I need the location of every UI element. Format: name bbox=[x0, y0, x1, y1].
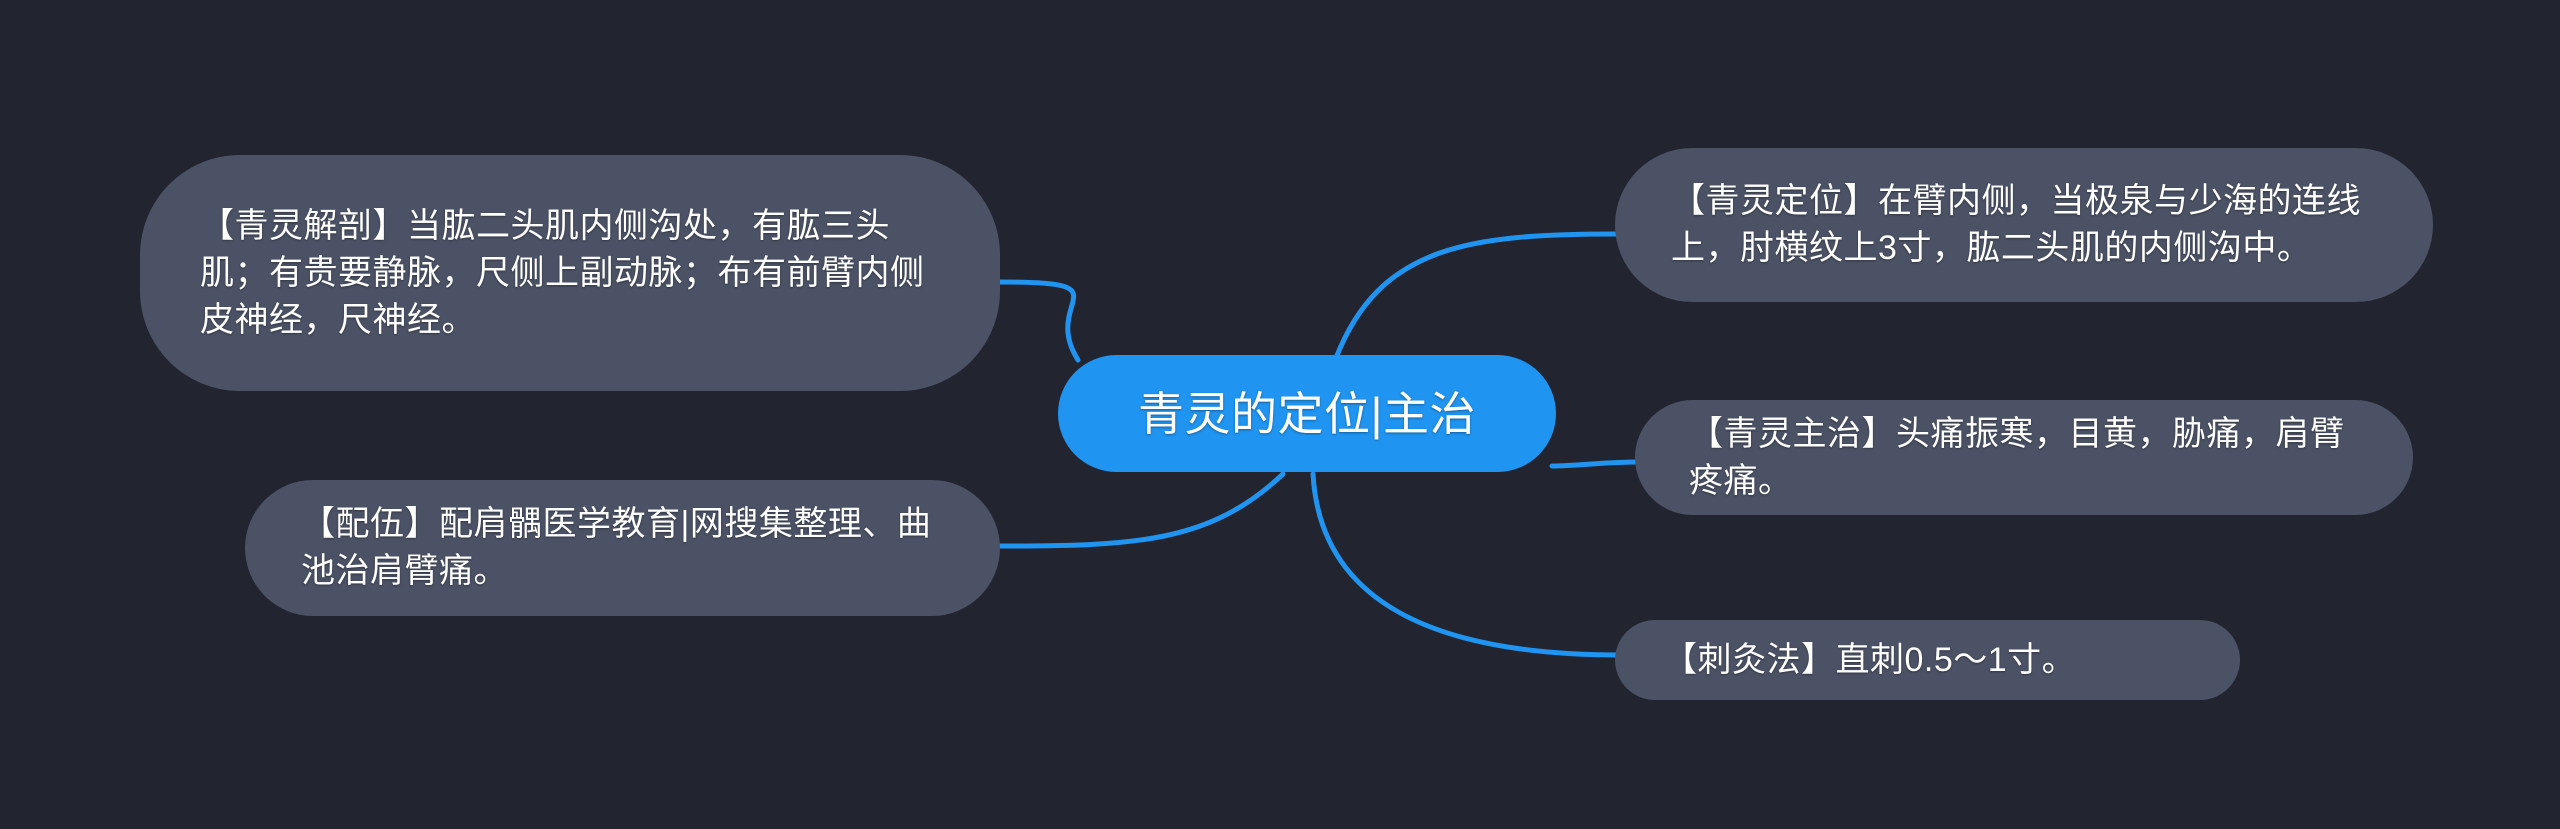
connector-root-pairing bbox=[1000, 474, 1283, 546]
connector-root-anatomy bbox=[1000, 282, 1078, 360]
connector-root-indications bbox=[1552, 462, 1640, 466]
mindmap-node-location-label: 【青灵定位】在臂内侧，当极泉与少海的连线上，肘横纹上3寸，肱二头肌的内侧沟中。 bbox=[1671, 178, 2375, 272]
mindmap-node-needling-label: 【刺灸法】直刺0.5～1寸。 bbox=[1663, 638, 2190, 682]
mindmap-root-label: 青灵的定位|主治 bbox=[1058, 389, 1556, 439]
mindmap-node-pairing-label: 【配伍】配肩髃医学教育|网搜集整理、曲池治肩臂痛。 bbox=[301, 501, 942, 595]
mindmap-node-indications-label: 【青灵主治】头痛振寒，目黄，胁痛，肩臂疼痛。 bbox=[1689, 411, 2357, 505]
connector-root-location bbox=[1336, 234, 1618, 358]
mindmap-node-location[interactable]: 【青灵定位】在臂内侧，当极泉与少海的连线上，肘横纹上3寸，肱二头肌的内侧沟中。 bbox=[1615, 148, 2433, 302]
mindmap-node-pairing[interactable]: 【配伍】配肩髃医学教育|网搜集整理、曲池治肩臂痛。 bbox=[245, 480, 1000, 616]
mindmap-node-anatomy[interactable]: 【青灵解剖】当肱二头肌内侧沟处，有肱三头肌；有贵要静脉，尺侧上副动脉；布有前臂内… bbox=[140, 155, 1000, 391]
mindmap-canvas: 【青灵解剖】当肱二头肌内侧沟处，有肱三头肌；有贵要静脉，尺侧上副动脉；布有前臂内… bbox=[0, 0, 2560, 829]
connector-root-needling bbox=[1313, 474, 1620, 655]
mindmap-node-needling[interactable]: 【刺灸法】直刺0.5～1寸。 bbox=[1615, 620, 2240, 700]
mindmap-node-anatomy-label: 【青灵解剖】当肱二头肌内侧沟处，有肱三头肌；有贵要静脉，尺侧上副动脉；布有前臂内… bbox=[200, 203, 938, 344]
mindmap-node-indications[interactable]: 【青灵主治】头痛振寒，目黄，胁痛，肩臂疼痛。 bbox=[1635, 400, 2413, 515]
mindmap-root-node[interactable]: 青灵的定位|主治 bbox=[1058, 355, 1556, 472]
